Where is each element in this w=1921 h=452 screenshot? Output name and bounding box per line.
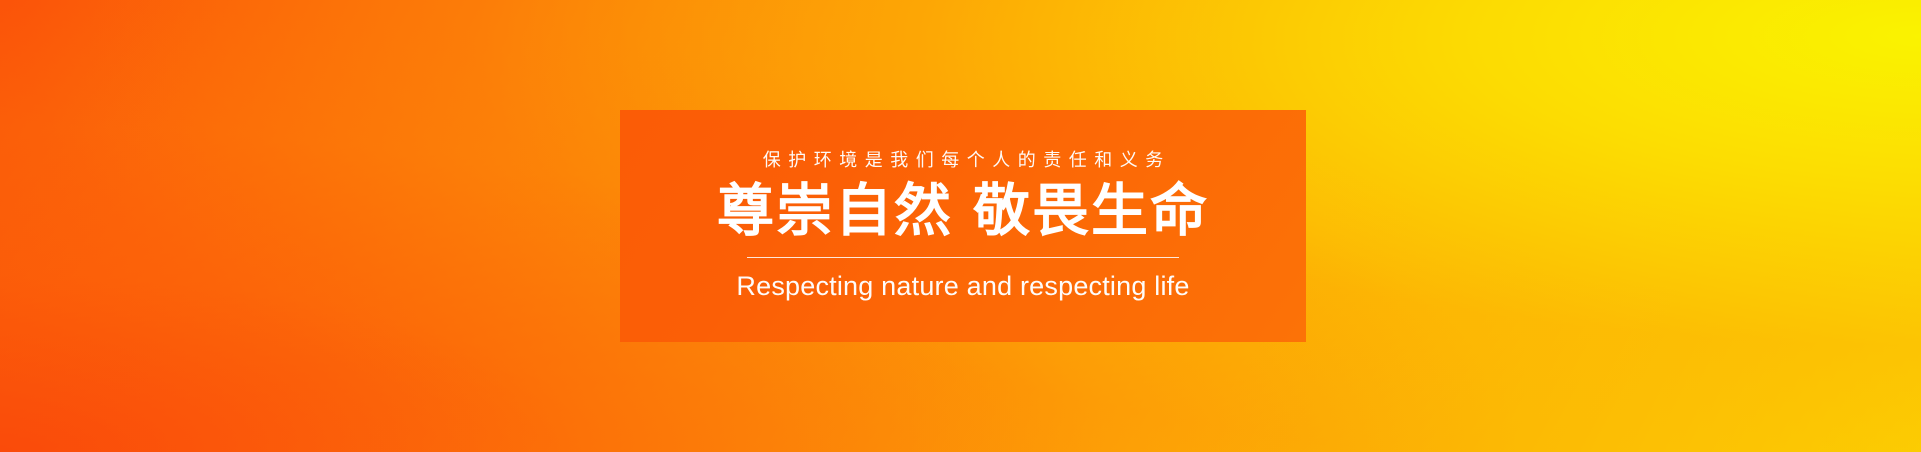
banner-content-panel: 保护环境是我们每个人的责任和义务 尊崇自然敬畏生命 Respecting nat… xyxy=(620,110,1306,342)
banner-subtitle: Respecting nature and respecting life xyxy=(736,272,1189,302)
banner-stage: 保护环境是我们每个人的责任和义务 尊崇自然敬畏生命 Respecting nat… xyxy=(0,0,1921,452)
banner-headline: 尊崇自然敬畏生命 xyxy=(717,182,1209,240)
banner-content-inner: 保护环境是我们每个人的责任和义务 尊崇自然敬畏生命 Respecting nat… xyxy=(620,151,1306,302)
headline-secondary-text: 敬畏生命 xyxy=(973,179,1209,243)
banner-divider xyxy=(747,257,1179,258)
headline-primary-text: 尊崇自然 xyxy=(717,179,953,243)
banner-tagline: 保护环境是我们每个人的责任和义务 xyxy=(755,151,1171,169)
